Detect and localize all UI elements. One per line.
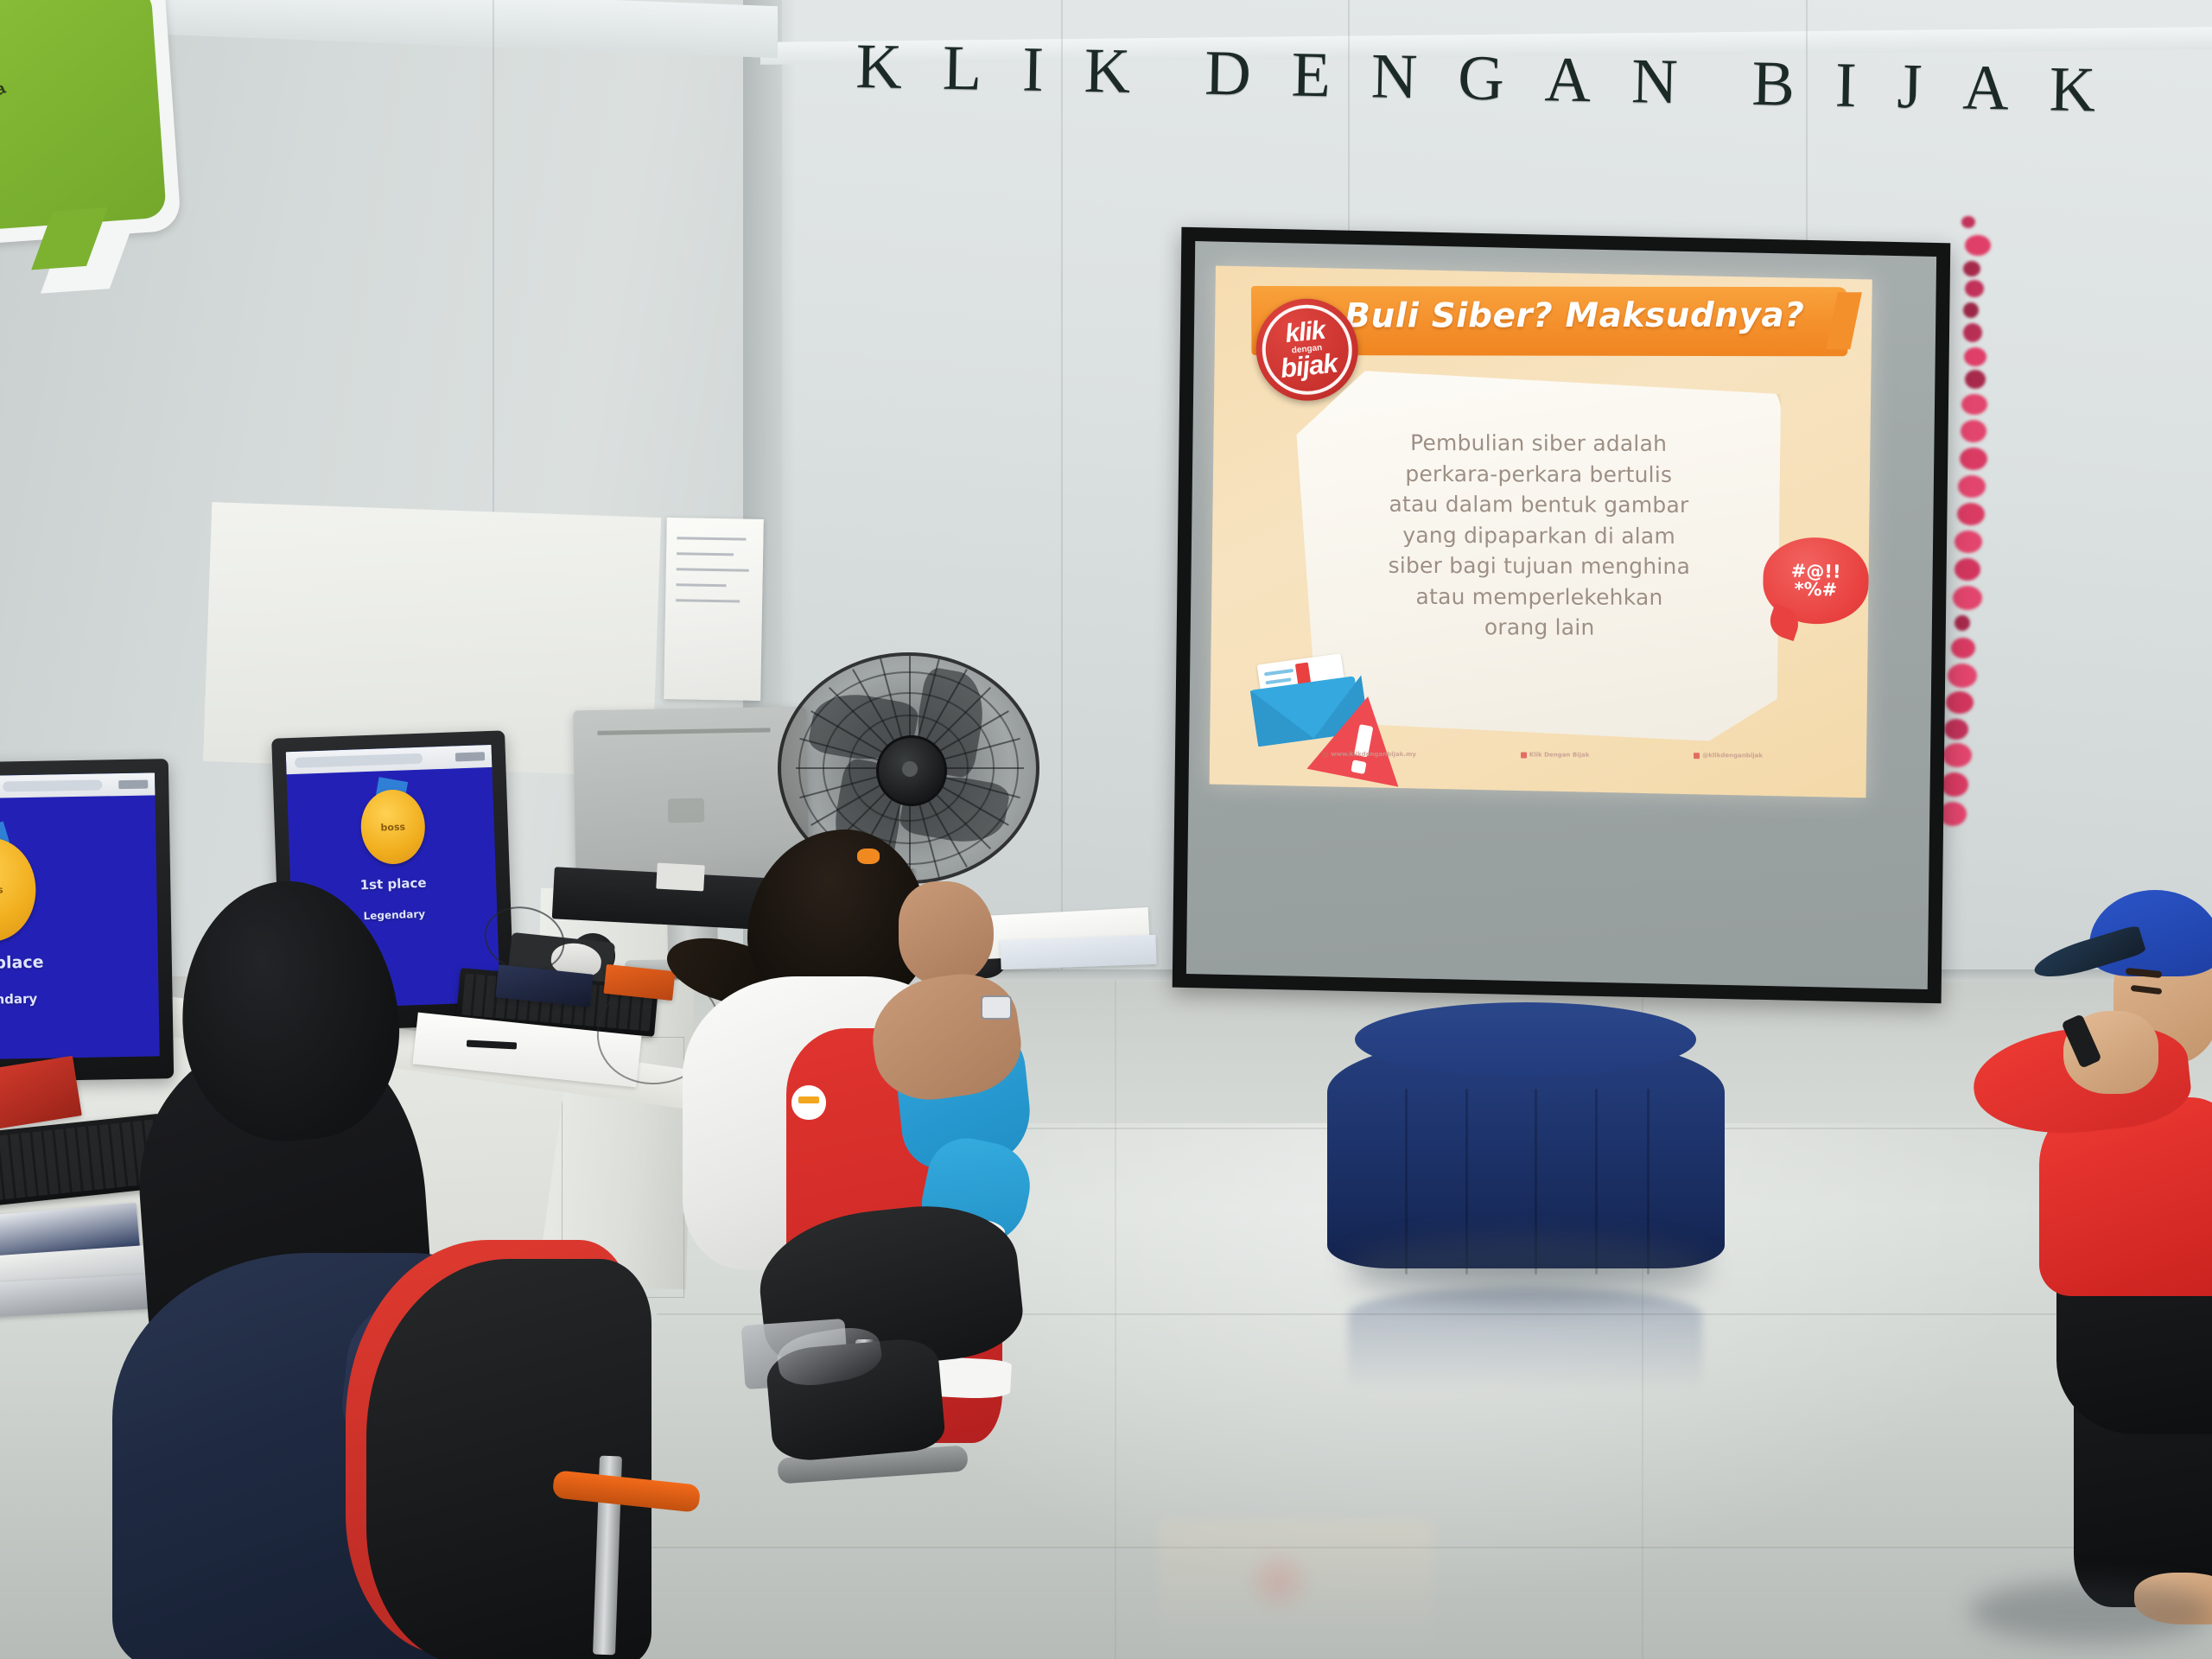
pompom-decor — [1961, 420, 1986, 442]
wall-letter: L — [942, 36, 982, 101]
pompom-decor — [1964, 347, 1986, 366]
pompom-decor — [1960, 448, 1987, 470]
note-line — [677, 552, 734, 556]
wall-letter: E — [1291, 43, 1332, 108]
url-field[interactable] — [3, 779, 103, 791]
footer-item: www.klikdenganbijak.my — [1322, 751, 1416, 758]
wall-letter: G — [1458, 46, 1505, 111]
pompom-decor — [1958, 475, 1986, 498]
pompom-decor — [1946, 691, 1974, 714]
note-line — [677, 537, 746, 540]
wall-letter: K — [2049, 57, 2096, 122]
medal-label: boss — [0, 884, 3, 895]
bubble-symbols-text: #@!! *%# — [1763, 537, 1869, 626]
pompom-decor — [1961, 216, 1975, 228]
monitor-logo — [668, 798, 704, 823]
pompom-decor — [1941, 772, 1968, 797]
footer-dot-icon — [1694, 753, 1700, 759]
wall-letter: J — [1897, 54, 1923, 119]
footer-dot-icon — [1521, 752, 1527, 758]
screen-surface: Buli Siber? Maksudnya? klik dengan bijak… — [1186, 241, 1936, 989]
face — [899, 881, 994, 985]
pompom-decor — [1942, 743, 1972, 767]
slide-body-line: orang lain — [1324, 612, 1756, 644]
slide-body-line: siber bagi tujuan menghina — [1323, 550, 1755, 582]
wall-letter: N — [1370, 44, 1418, 109]
pompom-decor — [1955, 531, 1982, 553]
slide-body-text: Pembulian siber adalah perkara-perkara b… — [1323, 428, 1756, 644]
medal-label: boss — [380, 821, 405, 833]
slide-body-line: atau memperlekehkan — [1323, 581, 1755, 613]
monitor-line-1: 1st place — [0, 952, 82, 974]
slide-body-line: Pembulian siber adalah — [1323, 428, 1755, 460]
pompom-decor — [1957, 503, 1985, 525]
pompom-decor — [1963, 302, 1979, 318]
floor-tile-line — [1115, 981, 1116, 1659]
wall-letter: K — [1084, 39, 1131, 104]
footer-item: @klikdenganbijak — [1694, 752, 1763, 759]
window-controls[interactable] — [455, 752, 485, 761]
klik-bijak-logo: klik dengan bijak — [1255, 298, 1358, 402]
bubble-line-2: *%# — [1790, 581, 1840, 601]
office-chair-red-black[interactable] — [346, 1214, 829, 1659]
window-controls[interactable] — [118, 780, 148, 790]
pompom-decor — [1944, 719, 1968, 740]
projector-screen: Buli Siber? Maksudnya? klik dengan bijak… — [1173, 227, 1951, 1004]
slide-floor-reflection-icon — [1244, 1547, 1313, 1616]
letter-line — [1264, 669, 1294, 677]
footer-dot-icon — [1322, 751, 1328, 757]
footer-social: @klikdenganbijak — [1702, 752, 1763, 759]
wall-seam-a — [1061, 0, 1063, 976]
medal-icon: boss — [0, 837, 36, 943]
footer-facebook: Klik Dengan Bijak — [1529, 752, 1590, 759]
slide-body-line: atau dalam bentuk gambar — [1323, 489, 1755, 521]
letter-line — [1265, 677, 1291, 684]
pompom-decor — [1951, 638, 1975, 658]
note-line — [677, 568, 749, 571]
pompom-decor — [1961, 394, 1987, 415]
footer-website: www.klikdenganbijak.my — [1331, 751, 1416, 758]
footer-item: Klik Dengan Bijak — [1521, 751, 1590, 758]
pompom-decor — [1963, 323, 1982, 342]
pompom-decor — [1965, 370, 1986, 389]
green-speech-bubble-poster: Latihan ICT MA kepada gung — [0, 0, 181, 250]
logo-line-3: bijak — [1280, 351, 1338, 382]
classroom-photo-scene: Latihan ICT MA kepada gung K L I K D E N… — [0, 0, 2212, 1659]
hello-kitty-graphic — [791, 1085, 826, 1120]
wall-letter: K — [855, 35, 903, 99]
monitor-vent — [597, 728, 770, 734]
monitor-line-2: Legendary — [0, 990, 79, 1008]
floor-shadow — [1348, 1236, 1711, 1305]
wall-letter: B — [1751, 52, 1796, 117]
presentation-slide: Buli Siber? Maksudnya? klik dengan bijak… — [1210, 266, 1872, 798]
slide-body-line: yang dipaparkan di alam — [1323, 519, 1755, 551]
wall-paper-note — [664, 518, 764, 701]
note-line — [676, 583, 726, 587]
note-line — [676, 599, 740, 602]
medal-icon: boss — [359, 789, 426, 866]
pompom-decor — [1965, 280, 1984, 297]
pompom-garland — [1960, 216, 1994, 899]
wall-letter: D — [1205, 41, 1252, 106]
pompom-decor — [1963, 261, 1980, 276]
fan-hub — [876, 735, 947, 806]
pompom-decor — [1965, 235, 1991, 256]
pompom-decor — [1948, 664, 1977, 688]
wall-letter: I — [1021, 38, 1044, 102]
censored-swear-speech-bubble: #@!! *%# — [1763, 537, 1869, 626]
table-cloth-top — [1355, 1002, 1696, 1077]
wristwatch — [981, 995, 1012, 1020]
slide-body-line: perkara-perkara bertulis — [1323, 458, 1755, 490]
slide-title: Buli Siber? Maksudnya? — [1344, 296, 1863, 335]
url-field[interactable] — [295, 753, 423, 768]
wall-letter: A — [1544, 48, 1592, 112]
pompom-decor — [1955, 615, 1970, 631]
floor-shadow — [1970, 1581, 2212, 1642]
browser-url-bar[interactable] — [0, 772, 155, 798]
orange-hair-tie — [857, 849, 880, 864]
student-boy-blue-cap-red-shirt — [1961, 890, 2212, 1659]
pompom-decor — [1955, 558, 1980, 581]
wall-letter: I — [1834, 54, 1857, 118]
pompom-decor — [1953, 586, 1982, 610]
wall-letter: A — [1962, 55, 2010, 120]
wall-letter: N — [1630, 49, 1678, 114]
logo-text: klik dengan bijak — [1275, 318, 1338, 382]
